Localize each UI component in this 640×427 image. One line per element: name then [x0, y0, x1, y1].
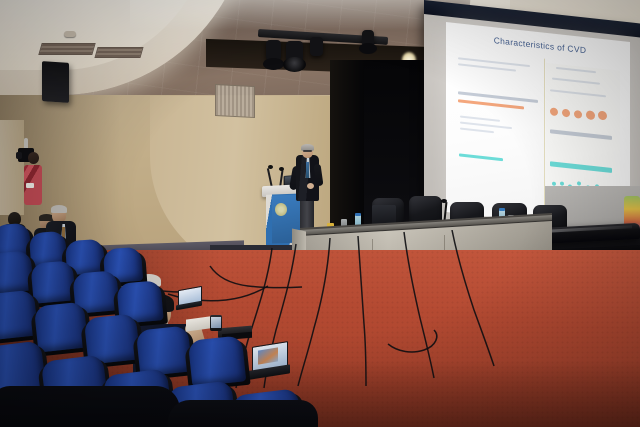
ceiling-air-vent — [38, 43, 95, 55]
audience-seat[interactable] — [34, 302, 89, 353]
wall-panel — [0, 120, 24, 215]
slide-teal-line — [459, 153, 503, 161]
stage-spotlight-lens — [283, 57, 306, 72]
seat-back — [34, 302, 89, 353]
camera-lens-icon — [16, 152, 22, 159]
ceiling-air-vent-secondary — [94, 47, 143, 58]
air-vent-grille — [215, 84, 255, 118]
slide-highlight-line — [458, 99, 524, 109]
slide-orange-marker — [598, 111, 607, 121]
person-hair-grey — [51, 205, 67, 213]
gooseneck-microphone-head — [441, 199, 447, 203]
institution-emblem-icon — [275, 203, 287, 216]
smartphone-screen — [211, 317, 221, 328]
foreground-seat-silhouette — [0, 386, 180, 427]
seat-back — [188, 335, 247, 386]
audience-seat[interactable] — [188, 335, 247, 386]
podium-microphone-head — [279, 167, 284, 171]
stage-spotlight-icon — [310, 37, 323, 56]
audience-seat[interactable] — [30, 260, 75, 304]
wall-speaker — [42, 61, 69, 103]
slide-text-line — [460, 116, 500, 122]
slide-orange-marker — [586, 110, 595, 120]
slide-orange-marker — [574, 110, 582, 119]
presenter-tie — [306, 162, 309, 178]
seat-back — [30, 260, 75, 304]
presenter-hand — [307, 183, 314, 189]
water-bottle-cap — [499, 208, 505, 211]
press-badge — [26, 183, 34, 188]
presenter-glasses-icon — [303, 150, 312, 152]
stage-spotlight-lens — [263, 58, 284, 70]
slide-text-line — [460, 128, 494, 134]
slide-orange-marker — [550, 107, 558, 116]
stage-spotlight-lens — [359, 43, 377, 54]
water-bottle-cap — [355, 213, 361, 216]
slide-teal-dot — [577, 181, 581, 185]
foreground-seat-silhouette — [168, 400, 318, 427]
smoke-detector-icon — [64, 31, 76, 37]
auditorium-photo: Characteristics of CVD — [0, 0, 640, 427]
videographer-head — [28, 152, 39, 164]
slide-orange-marker — [562, 109, 570, 118]
podium-microphone-head — [268, 165, 273, 169]
